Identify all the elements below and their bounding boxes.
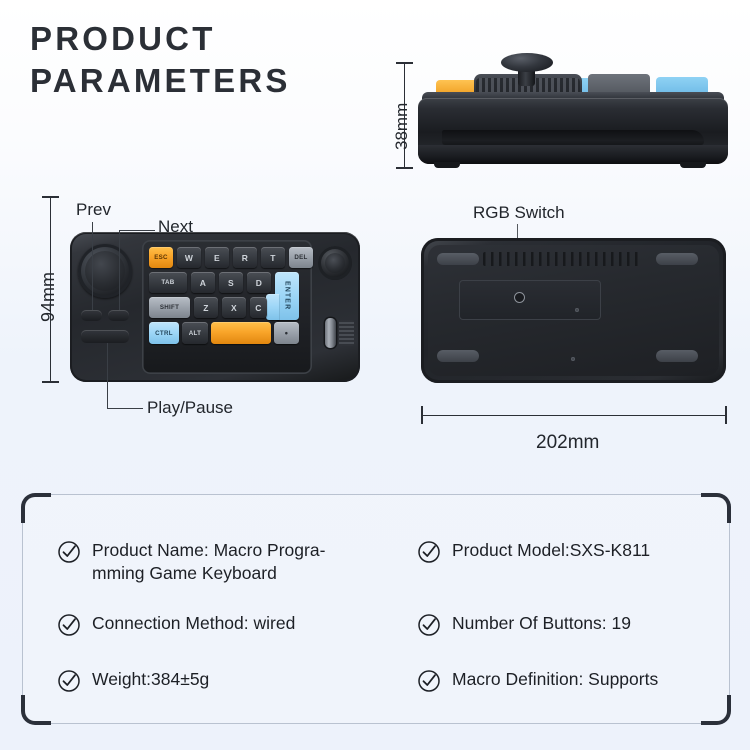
bottom-foot-pad-br	[656, 350, 698, 362]
key-x[interactable]: X	[222, 297, 246, 318]
key-c[interactable]: C	[250, 297, 267, 318]
next-leader-vertical	[119, 230, 120, 310]
product-top-view: ESC W E R T DEL TAB A S D ENTER SHIFT Z …	[70, 232, 360, 382]
dim-202mm-cap-right	[725, 406, 727, 424]
side-foot-right	[680, 162, 706, 168]
product-bottom-view	[421, 238, 726, 383]
spec-item-number-of-buttons: Number Of Buttons: 19	[417, 612, 711, 642]
page-title-line-1: PRODUCT	[30, 18, 390, 60]
dim-94mm-cap-bottom	[42, 381, 59, 383]
dim-38mm-label: 38mm	[392, 103, 412, 150]
prev-button[interactable]	[81, 310, 102, 321]
bottom-label-panel	[459, 280, 601, 320]
next-label: Next	[158, 217, 193, 237]
dim-202mm-line	[421, 415, 726, 416]
key-space[interactable]	[211, 322, 271, 344]
side-foot-left	[434, 162, 460, 168]
prev-label: Prev	[76, 200, 111, 220]
product-side-view	[418, 52, 728, 177]
next-leader-horizontal	[119, 230, 155, 231]
rgb-switch-hole[interactable]	[514, 292, 525, 303]
spec-text: Product Model:SXS-K811	[452, 539, 650, 562]
spec-text: Product Name: Macro Progra- mming Game K…	[92, 539, 325, 586]
product-parameters-page: PRODUCT PARAMETERS 38mm RGB Switch	[0, 0, 750, 750]
joystick[interactable]	[318, 246, 352, 280]
check-icon	[417, 540, 441, 569]
page-title-line-2: PARAMETERS	[30, 60, 390, 102]
panel-corner-bottom-left	[21, 695, 51, 725]
rgb-switch-label: RGB Switch	[473, 203, 565, 223]
key-tab[interactable]: TAB	[149, 272, 187, 293]
bottom-foot-pad-bl	[437, 350, 479, 362]
spec-text: Macro Definition: Supports	[452, 668, 658, 691]
spec-item-weight: Weight:384±5g	[57, 668, 417, 698]
bottom-screw-center	[571, 357, 575, 361]
bottom-screw-right	[575, 308, 579, 312]
bottom-foot-pad-tl	[437, 253, 479, 265]
specifications-panel: Product Name: Macro Progra- mming Game K…	[22, 494, 730, 724]
play-pause-button[interactable]	[81, 330, 129, 343]
dim-94mm-cap-top	[42, 196, 59, 198]
spec-item-connection-method: Connection Method: wired	[57, 612, 417, 642]
panel-corner-bottom-right	[701, 695, 731, 725]
next-button[interactable]	[108, 310, 129, 321]
key-d[interactable]: D	[247, 272, 271, 293]
key-alt[interactable]: ALT	[182, 322, 208, 344]
check-icon	[57, 613, 81, 642]
spec-item-macro-definition: Macro Definition: Supports	[417, 668, 711, 698]
key-ctrl[interactable]: CTRL	[149, 322, 179, 344]
play-pause-leader-horizontal	[107, 408, 143, 409]
key-enter-foot[interactable]	[266, 294, 279, 320]
dim-38mm-cap-top	[396, 62, 413, 64]
scroll-wheel-ridges	[339, 320, 354, 346]
spec-text: Connection Method: wired	[92, 612, 295, 635]
scroll-wheel[interactable]	[325, 318, 336, 348]
bottom-foot-pad-tr	[656, 253, 698, 265]
check-icon	[57, 669, 81, 698]
play-pause-label: Play/Pause	[147, 398, 233, 418]
key-a[interactable]: A	[191, 272, 215, 293]
key-e[interactable]: E	[205, 247, 229, 268]
volume-knob[interactable]	[78, 244, 132, 298]
dim-202mm-label: 202mm	[536, 432, 599, 454]
key-z[interactable]: Z	[194, 297, 218, 318]
dim-38mm-cap-bottom	[396, 167, 413, 169]
key-t[interactable]: T	[261, 247, 285, 268]
check-icon	[57, 540, 81, 569]
prev-leader	[92, 222, 93, 310]
page-title: PRODUCT PARAMETERS	[30, 18, 390, 102]
key-del[interactable]: DEL	[289, 247, 313, 268]
panel-corner-top-right	[701, 493, 731, 523]
check-icon	[417, 613, 441, 642]
key-r[interactable]: R	[233, 247, 257, 268]
spec-text: Weight:384±5g	[92, 668, 209, 691]
dim-202mm-cap-left	[421, 406, 423, 424]
check-icon	[417, 669, 441, 698]
specifications-list: Product Name: Macro Progra- mming Game K…	[57, 539, 711, 698]
dim-94mm-label: 94mm	[38, 272, 59, 322]
key-s[interactable]: S	[219, 272, 243, 293]
key-w[interactable]: W	[177, 247, 201, 268]
key-esc[interactable]: ESC	[149, 247, 173, 268]
key-shift[interactable]: SHIFT	[149, 297, 190, 318]
bottom-vents	[483, 252, 643, 266]
spec-item-product-name: Product Name: Macro Progra- mming Game K…	[57, 539, 417, 586]
play-pause-leader-vertical	[107, 343, 108, 409]
panel-corner-top-left	[21, 493, 51, 523]
key-dot[interactable]: •	[274, 322, 299, 344]
side-groove	[442, 130, 704, 145]
spec-text: Number Of Buttons: 19	[452, 612, 631, 635]
spec-item-product-model: Product Model:SXS-K811	[417, 539, 711, 586]
side-joystick-cap	[501, 53, 553, 72]
